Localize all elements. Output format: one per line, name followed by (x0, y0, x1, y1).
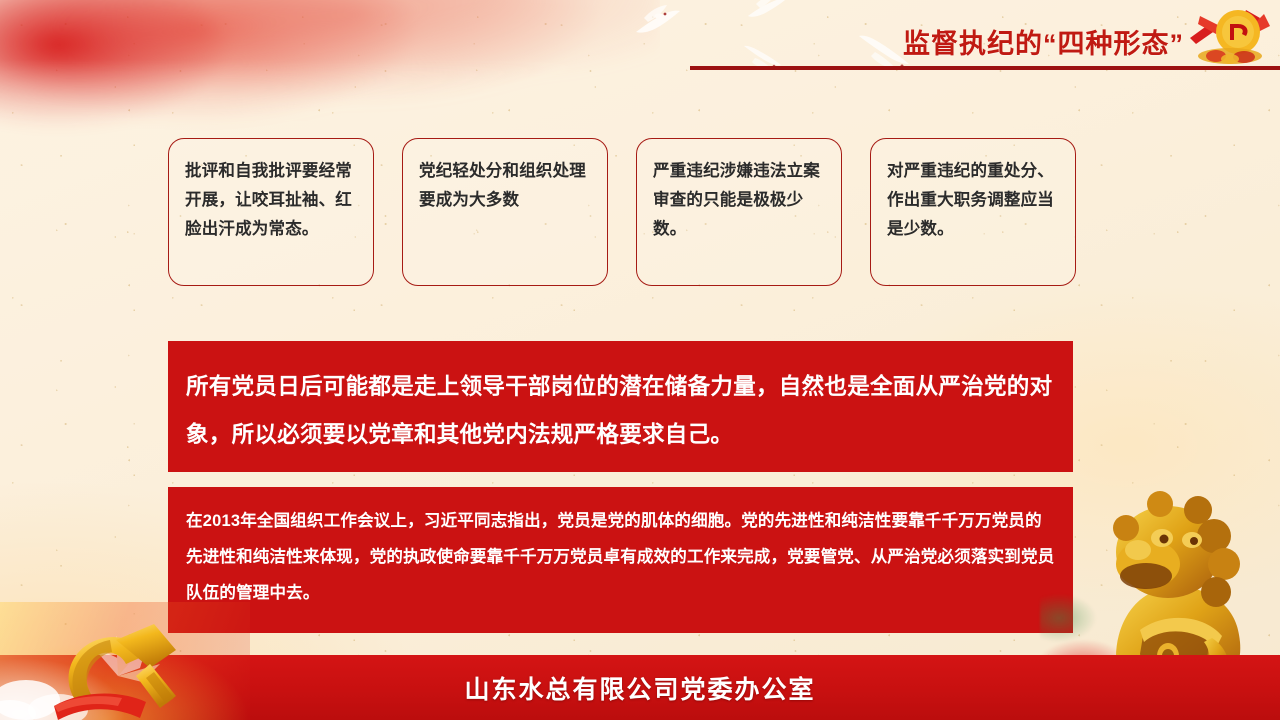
form-box-1-text: 批评和自我批评要经常开展，让咬耳扯袖、红脸出汗成为常态。 (185, 157, 357, 244)
dove-icon (740, 36, 782, 70)
statement-banner: 所有党员日后可能都是走上领导干部岗位的潜在储备力量，自然也是全面从严治党的对象，… (168, 341, 1073, 472)
form-box-2[interactable]: 党纪轻处分和组织处理要成为大多数 (402, 138, 608, 286)
four-forms-group: 批评和自我批评要经常开展，让咬耳扯袖、红脸出汗成为常态。 党纪轻处分和组织处理要… (168, 138, 1076, 286)
form-box-3-text: 严重违纪涉嫌违法立案审查的只能是极极少数。 (653, 157, 825, 244)
quote-banner: 在2013年全国组织工作会议上，习近平同志指出，党员是党的肌体的细胞。党的先进性… (168, 487, 1073, 633)
dove-icon (626, 2, 682, 42)
footer-organization: 山东水总有限公司党委办公室 (0, 655, 1280, 720)
form-box-1[interactable]: 批评和自我批评要经常开展，让咬耳扯袖、红脸出汗成为常态。 (168, 138, 374, 286)
header-divider-rule (690, 66, 1280, 70)
quote-text: 在2013年全国组织工作会议上，习近平同志指出，党员是党的肌体的细胞。党的先进性… (168, 487, 1073, 611)
form-box-2-text: 党纪轻处分和组织处理要成为大多数 (419, 157, 591, 215)
dove-icon (742, 0, 786, 24)
form-box-4[interactable]: 对严重违纪的重处分、作出重大职务调整应当是少数。 (870, 138, 1076, 286)
statement-text: 所有党员日后可能都是走上领导干部岗位的潜在储备力量，自然也是全面从严治党的对象，… (168, 341, 1073, 459)
form-box-3[interactable]: 严重违纪涉嫌违法立案审查的只能是极极少数。 (636, 138, 842, 286)
slide-canvas: 监督执纪的“四种形态” 批评和自我批评要经常开展，让咬耳扯袖、红脸出汗成为常态。… (0, 0, 1280, 720)
page-title: 监督执纪的“四种形态” (903, 22, 1184, 61)
party-emblem-icon (1186, 4, 1272, 66)
form-box-4-text: 对严重违纪的重处分、作出重大职务调整应当是少数。 (887, 157, 1059, 244)
